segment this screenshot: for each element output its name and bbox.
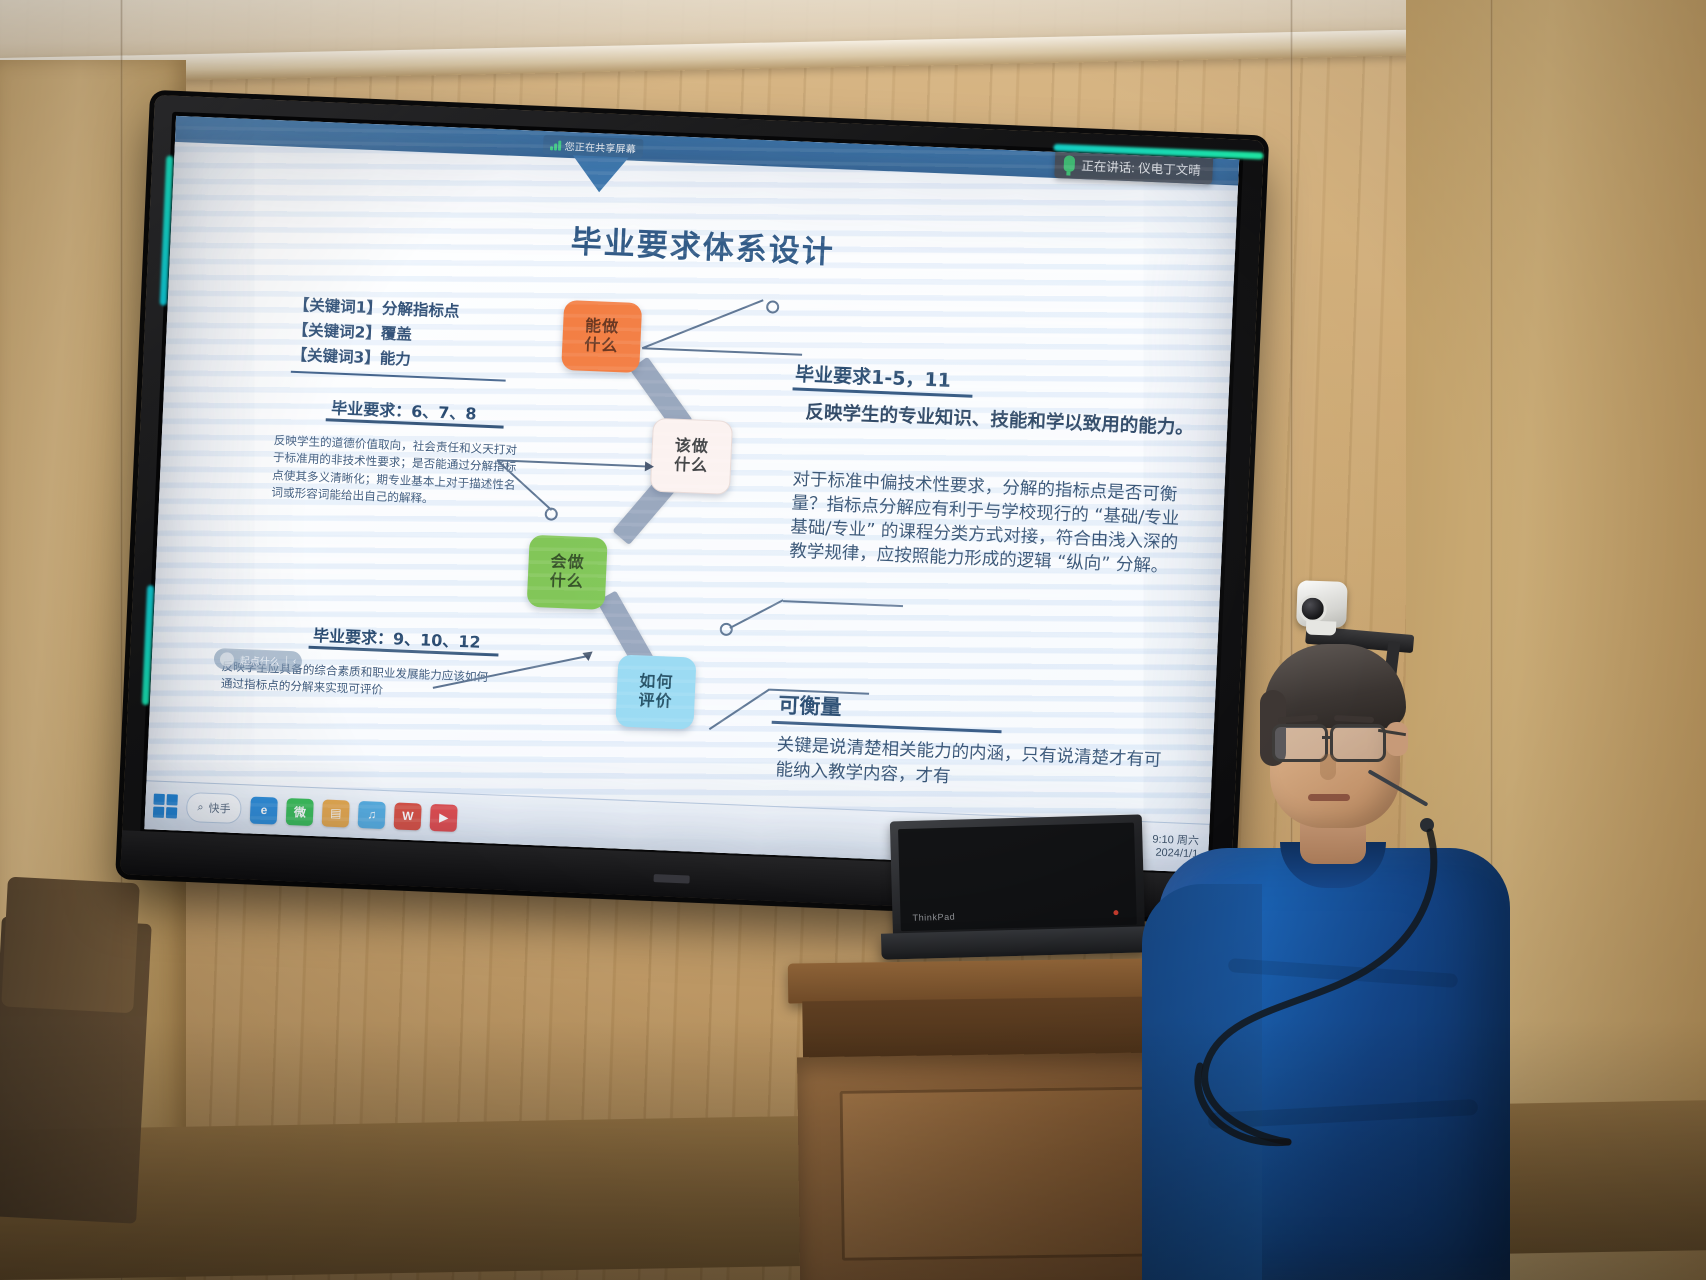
presenter-nose xyxy=(1320,754,1336,780)
signal-bars-icon xyxy=(550,140,561,150)
screen-share-indicator[interactable]: 您正在共享屏幕 xyxy=(543,135,644,158)
microphone-capsule-icon xyxy=(1420,818,1434,832)
toolbar-avatar-icon xyxy=(220,652,235,667)
keyword-item-3: 【关键词3】能力 xyxy=(291,343,458,375)
toolbar-divider xyxy=(286,655,288,667)
node-should-do-label: 该做 什么 xyxy=(674,437,710,476)
right-body-2: 关键是说清楚相关能力的内涵，只有说清楚才有可能纳入教学内容，才有 xyxy=(775,733,1177,798)
display-screen[interactable]: 您正在共享屏幕 正在讲话: 仪电丁文晴 毕业要求体系设计 【关键词1】分解指标点… xyxy=(144,116,1239,873)
keywords-block: 【关键词1】分解指标点 【关键词2】覆盖 【关键词3】能力 xyxy=(291,293,460,375)
node-how-to-evaluate-label: 如何 评价 xyxy=(638,672,674,711)
video-icon[interactable]: ▶ xyxy=(430,803,458,831)
wps-icon[interactable]: W xyxy=(394,802,422,830)
laptop-brand-label: ThinkPad xyxy=(912,912,955,923)
folder-icon[interactable]: ▤ xyxy=(322,799,350,827)
microphone-icon xyxy=(1063,155,1075,171)
node-can-do-label: 能做 什么 xyxy=(584,317,620,356)
right-heading-2: 可衡量 xyxy=(778,689,842,722)
right-body-1: 对于标准中偏技术性要求，分解的指标点是否可衡量？指标点分解应有利于与学校现行的 … xyxy=(789,467,1193,580)
interactive-flat-panel-display[interactable]: 您正在共享屏幕 正在讲话: 仪电丁文晴 毕业要求体系设计 【关键词1】分解指标点… xyxy=(120,95,1264,920)
taskbar-search-box[interactable]: ⌕ 快手 xyxy=(186,792,242,824)
windows-start-icon[interactable] xyxy=(153,794,178,819)
slide-title: 毕业要求体系设计 xyxy=(170,200,1235,289)
conference-room-photo: 您正在共享屏幕 正在讲话: 仪电丁文晴 毕业要求体系设计 【关键词1】分解指标点… xyxy=(0,0,1706,1280)
mini-toolbar-label: 起点什么 xyxy=(240,652,281,669)
eyeglasses-icon xyxy=(1272,724,1400,758)
laptop-lid: ThinkPad xyxy=(890,814,1145,937)
speaking-now-label: 正在讲话: 仪电丁文晴 xyxy=(1081,155,1201,179)
display-brand-plate xyxy=(653,874,689,883)
screen-share-label: 您正在共享屏幕 xyxy=(564,138,636,156)
laptop-logo-dot xyxy=(1113,910,1118,915)
node-can-do[interactable]: 能做 什么 xyxy=(561,300,642,373)
wechat-icon[interactable]: 微 xyxy=(286,798,314,826)
chair-back xyxy=(1,877,140,1014)
chair xyxy=(0,916,152,1223)
edge-icon[interactable]: e xyxy=(250,796,278,824)
left-body-1: 反映学生的道德价值取向，社会责任和义天打对于标准用的非技术性要求；是否能通过分解… xyxy=(271,432,518,511)
media-icon[interactable]: ♫ xyxy=(358,800,386,828)
presenter-shoulder xyxy=(1142,884,1262,1280)
node-able-to-do[interactable]: 会做 什么 xyxy=(527,535,608,610)
presenter xyxy=(1168,636,1498,1280)
presenter-mouth xyxy=(1308,794,1350,801)
taskbar-search-text: 快手 xyxy=(208,800,231,817)
node-able-to-do-label: 会做 什么 xyxy=(549,553,585,592)
taskbar-left-group: ⌕ 快手 e 微 ▤ ♫ W ▶ xyxy=(145,790,458,833)
laptop: ThinkPad xyxy=(878,814,1150,981)
powerpoint-slide[interactable]: 您正在共享屏幕 正在讲话: 仪电丁文晴 毕业要求体系设计 【关键词1】分解指标点… xyxy=(144,116,1239,873)
slide-mini-toolbar[interactable]: 起点什么 ‹ xyxy=(214,648,303,673)
right-lead-1: 反映学生的专业知识、技能和学以致用的能力。 xyxy=(805,400,1196,441)
sharing-bar-pointer xyxy=(571,155,629,193)
node-how-to-evaluate[interactable]: 如何 评价 xyxy=(615,654,696,729)
right-heading-2-underline xyxy=(772,721,1002,733)
search-icon: ⌕ xyxy=(197,801,204,814)
chevron-left-icon[interactable]: ‹ xyxy=(293,656,297,667)
node-should-do[interactable]: 该做 什么 xyxy=(650,418,733,495)
